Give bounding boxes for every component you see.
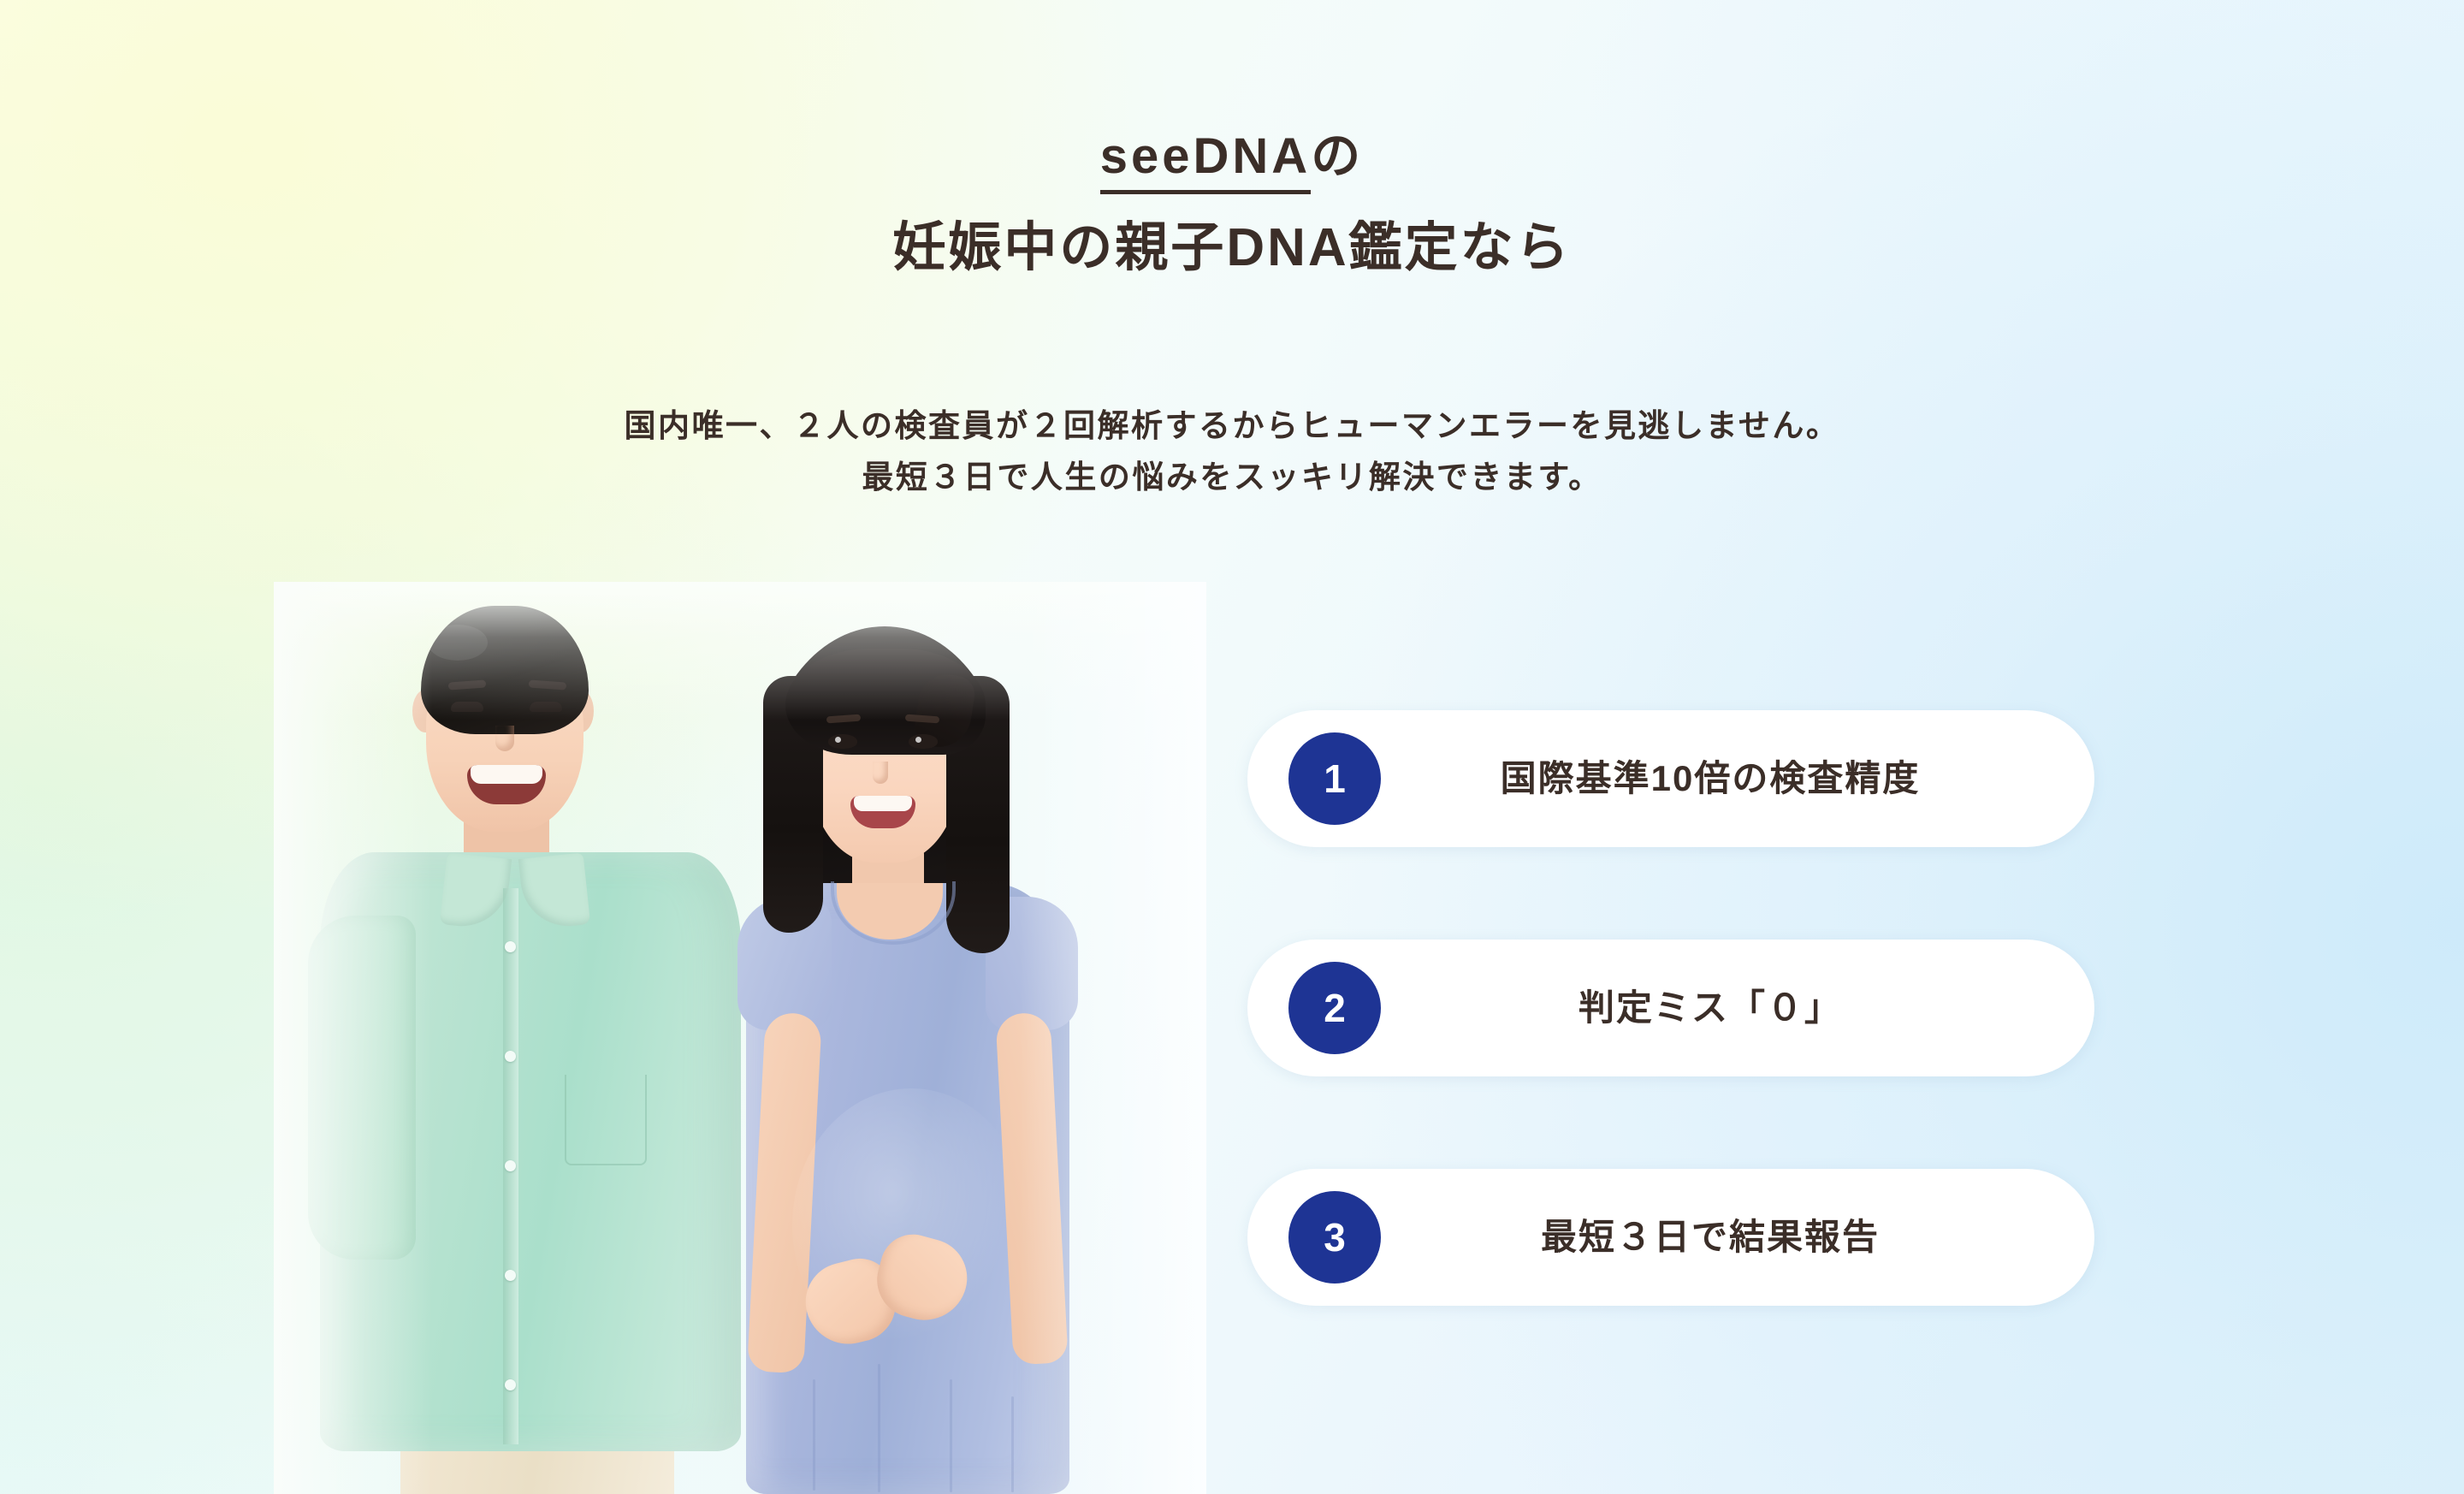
woman-dress-neckline [837,883,943,940]
man-shirt-pocket [565,1075,647,1165]
subtitle-block: 国内唯一、２人の検査員が２回解析するからヒューマンエラーを見逃しません。 最短３… [0,400,2464,503]
photo-stage [282,590,1198,1494]
brand-name-underlined: seeDNA [1100,128,1311,194]
woman-mouth [850,796,915,828]
hero-section: seeDNAの 妊娠中の親子DNA鑑定なら 国内唯一、２人の検査員が２回解析する… [0,0,2464,1494]
headline-particle: の [1311,128,1364,184]
man-shirt-button [505,1379,516,1390]
woman-eye-left [828,734,857,749]
man-nose [495,726,514,751]
dress-fold [878,1364,880,1492]
man-mouth [467,765,546,804]
feature-list: 1 国際基準10倍の検査精度 2 判定ミス「０」 3 最短３日で結果報告 [1247,710,2094,1306]
feature-label-2: 判定ミス「０」 [1381,986,2094,1031]
feature-label-3: 最短３日で結果報告 [1381,1215,2094,1260]
feature-label-1: 国際基準10倍の検査精度 [1381,756,2094,802]
headline-line-2: 妊娠中の親子DNA鑑定なら [0,216,2464,280]
headline-line-1: seeDNAの [0,128,2464,186]
dress-fold [950,1379,952,1492]
man-eye-left [451,702,483,712]
subtitle-line-2: 最短３日で人生の悩みをスッキリ解決できます。 [0,452,2464,503]
woman-teeth [854,796,912,811]
man-teeth [471,765,542,784]
man-sleeve-left [308,916,416,1260]
dress-fold [1011,1396,1014,1492]
feature-pill-3[interactable]: 3 最短３日で結果報告 [1247,1169,2094,1306]
man-shirt-button [505,941,516,952]
feature-pill-2[interactable]: 2 判定ミス「０」 [1247,940,2094,1076]
man-shirt-button [505,1051,516,1062]
subtitle-line-1: 国内唯一、２人の検査員が２回解析するからヒューマンエラーを見逃しません。 [0,400,2464,452]
woman-eye-right [909,734,938,749]
couple-photo [282,590,1198,1494]
man-shirt-button [505,1270,516,1281]
feature-number-badge-2: 2 [1288,962,1381,1054]
woman-figure [684,626,1129,1494]
feature-pill-1[interactable]: 1 国際基準10倍の検査精度 [1247,710,2094,847]
dress-fold [813,1379,815,1491]
feature-number-badge-3: 3 [1288,1191,1381,1284]
woman-hair-bangs [785,649,986,755]
woman-nose [873,762,888,784]
headline-block: seeDNAの 妊娠中の親子DNA鑑定なら [0,128,2464,280]
man-eye-right [530,702,562,712]
man-shirt-button [505,1160,516,1171]
feature-number-badge-1: 1 [1288,732,1381,825]
man-hair [421,606,589,734]
